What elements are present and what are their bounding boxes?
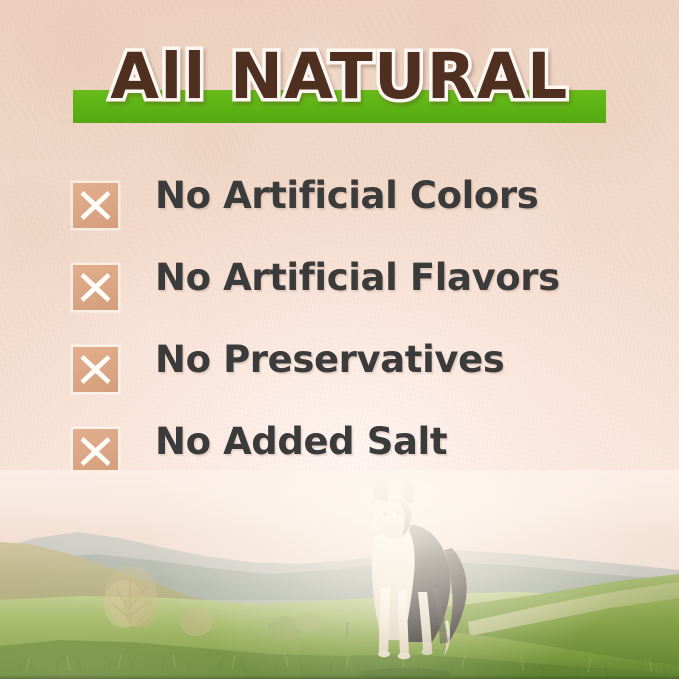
landscape-photo — [0, 470, 679, 679]
x-mark-icon — [73, 183, 118, 228]
x-mark-icon — [73, 347, 118, 392]
headline-banner: All NATURAL — [0, 0, 679, 140]
claims-list: No Artificial Colors No Artificial Flavo… — [0, 168, 679, 496]
landscape-photo-artwork — [0, 470, 679, 679]
x-mark-icon — [73, 429, 118, 474]
ad-creative-canvas: All NATURAL No Artificial Colors No Arti… — [0, 0, 679, 679]
claim-row: No Preservatives — [0, 332, 679, 414]
claim-label: No Added Salt — [155, 419, 447, 465]
x-mark-icon — [73, 265, 118, 310]
claim-label: No Preservatives — [155, 337, 504, 383]
claim-label: No Artificial Flavors — [155, 255, 560, 301]
headline-title: All NATURAL — [0, 44, 679, 110]
claim-row: No Artificial Colors — [0, 168, 679, 250]
claim-label: No Artificial Colors — [155, 173, 538, 219]
claim-row: No Artificial Flavors — [0, 250, 679, 332]
